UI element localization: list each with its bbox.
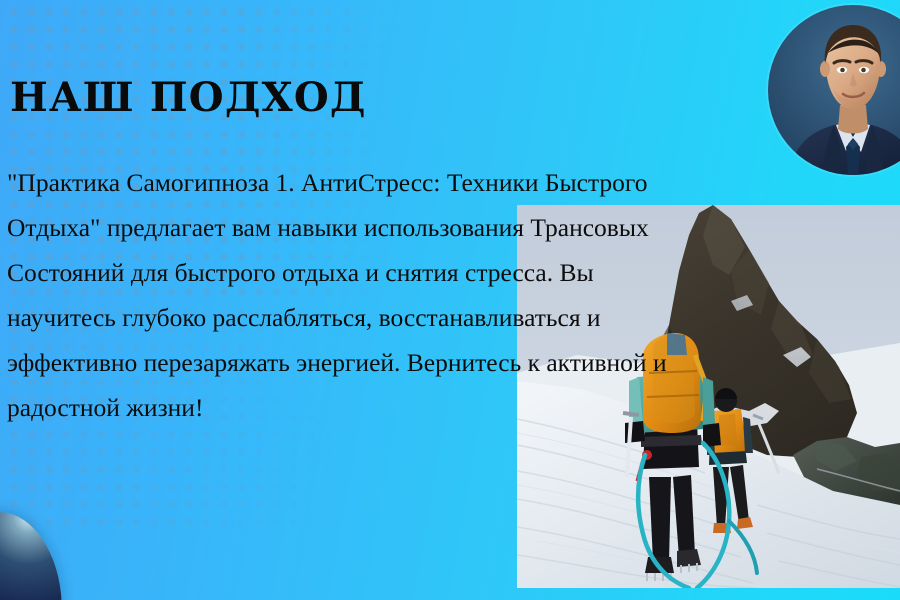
- presenter-portrait-illustration: [768, 5, 900, 175]
- bottom-left-sphere-decoration: [0, 507, 68, 600]
- page-title: НАШ ПОДХОД: [10, 76, 367, 120]
- body-paragraph: "Практика Самогипноза 1. АнтиСтресс: Тех…: [7, 160, 667, 430]
- avatar: [768, 5, 900, 175]
- slide-canvas: НАШ ПОДХОД "Практика Самогипноза 1. Анти…: [0, 0, 900, 600]
